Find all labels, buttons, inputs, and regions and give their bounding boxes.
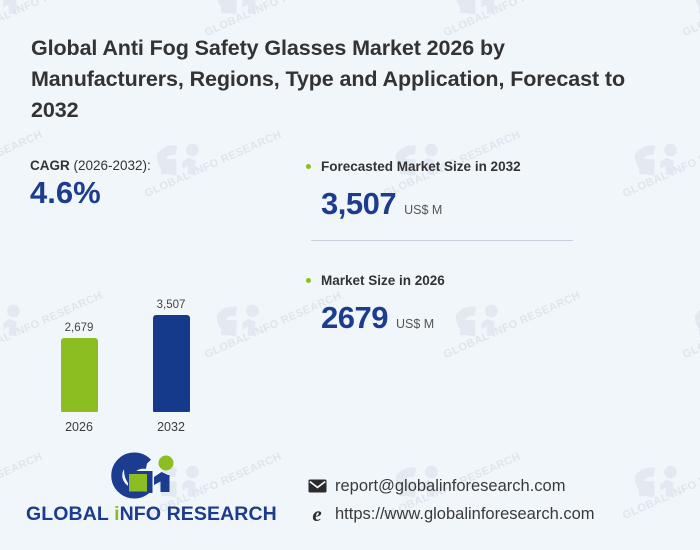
- bar-value-label: 3,507: [140, 299, 202, 311]
- contact-row-website[interactable]: e https://www.globalinforesearch.com: [306, 500, 595, 528]
- email-address[interactable]: report@globalinforesearch.com: [335, 477, 565, 496]
- internet-explorer-e-icon: e: [306, 504, 328, 524]
- brand-logo: GLOBAL iNFO RESEARCH: [26, 452, 271, 526]
- bar-rect-2026: [61, 338, 98, 412]
- contact-row-email[interactable]: report@globalinforesearch.com: [306, 472, 595, 500]
- watermark-text: GLOBAL iNFO RESEARCH: [681, 290, 700, 361]
- brand-name-part2: NFO RESEARCH: [120, 503, 277, 525]
- cagr-label-bold: CAGR: [30, 158, 70, 173]
- website-url[interactable]: https://www.globalinforesearch.com: [335, 505, 595, 524]
- contact-info: report@globalinforesearch.com e https://…: [306, 472, 595, 528]
- stats-divider: [311, 240, 573, 241]
- watermark-text: GLOBAL iNFO RESEARCH: [143, 129, 283, 200]
- bar-category-label: 2032: [140, 420, 202, 434]
- infographic-canvas: GLOBAL iNFO RESEARCHGLOBAL iNFO RESEARCH…: [0, 0, 700, 550]
- stat-current-market-size: Market Size in 2026 2679 US$ M: [305, 272, 675, 334]
- watermark-tile: GLOBAL iNFO RESEARCH: [617, 453, 700, 550]
- watermark-text: GLOBAL iNFO RESEARCH: [621, 451, 700, 522]
- envelope-icon: [306, 476, 328, 496]
- stat-header: Forecasted Market Size in 2032: [305, 158, 675, 176]
- watermark-tile: GLOBAL iNFO RESEARCH: [677, 292, 700, 412]
- stat-unit: US$ M: [396, 317, 434, 331]
- stat-value: 3,507: [321, 188, 396, 220]
- brand-name-part1: GLOBAL: [26, 503, 114, 525]
- market-size-bar-chart: 2,679 2026 3,507 2032: [40, 282, 235, 434]
- bar-category-label: 2026: [48, 420, 110, 434]
- cagr-block: CAGR (2026-2032): 4.6%: [30, 158, 151, 210]
- stat-label: Market Size in 2026: [321, 272, 445, 290]
- gi-logo-icon: [103, 452, 195, 500]
- watermark-tile: GLOBAL iNFO RESEARCH: [139, 131, 289, 251]
- stat-figure: 2679 US$ M: [305, 302, 675, 334]
- stat-label: Forecasted Market Size in 2032: [321, 158, 521, 176]
- bar-value-label: 2,679: [48, 322, 110, 334]
- cagr-label-period: (2026-2032):: [70, 158, 151, 173]
- cagr-value: 4.6%: [30, 176, 151, 210]
- stat-unit: US$ M: [404, 203, 442, 217]
- stat-value: 2679: [321, 302, 388, 334]
- page-title: Global Anti Fog Safety Glasses Market 20…: [31, 33, 631, 126]
- brand-name: GLOBAL iNFO RESEARCH: [26, 503, 271, 526]
- bar-column-2026: 2,679 2026: [48, 282, 110, 434]
- watermark-tile: GLOBAL iNFO RESEARCH: [677, 0, 700, 90]
- stat-forecasted-market-size: Forecasted Market Size in 2032 3,507 US$…: [305, 158, 675, 220]
- watermark-text: GLOBAL iNFO RESEARCH: [681, 0, 700, 39]
- stat-header: Market Size in 2026: [305, 272, 675, 290]
- market-stats-panel: Forecasted Market Size in 2032 3,507 US$…: [305, 158, 675, 334]
- bar-column-2032: 3,507 2032: [140, 282, 202, 434]
- bar-rect-2032: [153, 315, 190, 412]
- stat-figure: 3,507 US$ M: [305, 188, 675, 220]
- bullet-dot-icon: [306, 278, 311, 283]
- cagr-label: CAGR (2026-2032):: [30, 158, 151, 173]
- bullet-dot-icon: [306, 164, 311, 169]
